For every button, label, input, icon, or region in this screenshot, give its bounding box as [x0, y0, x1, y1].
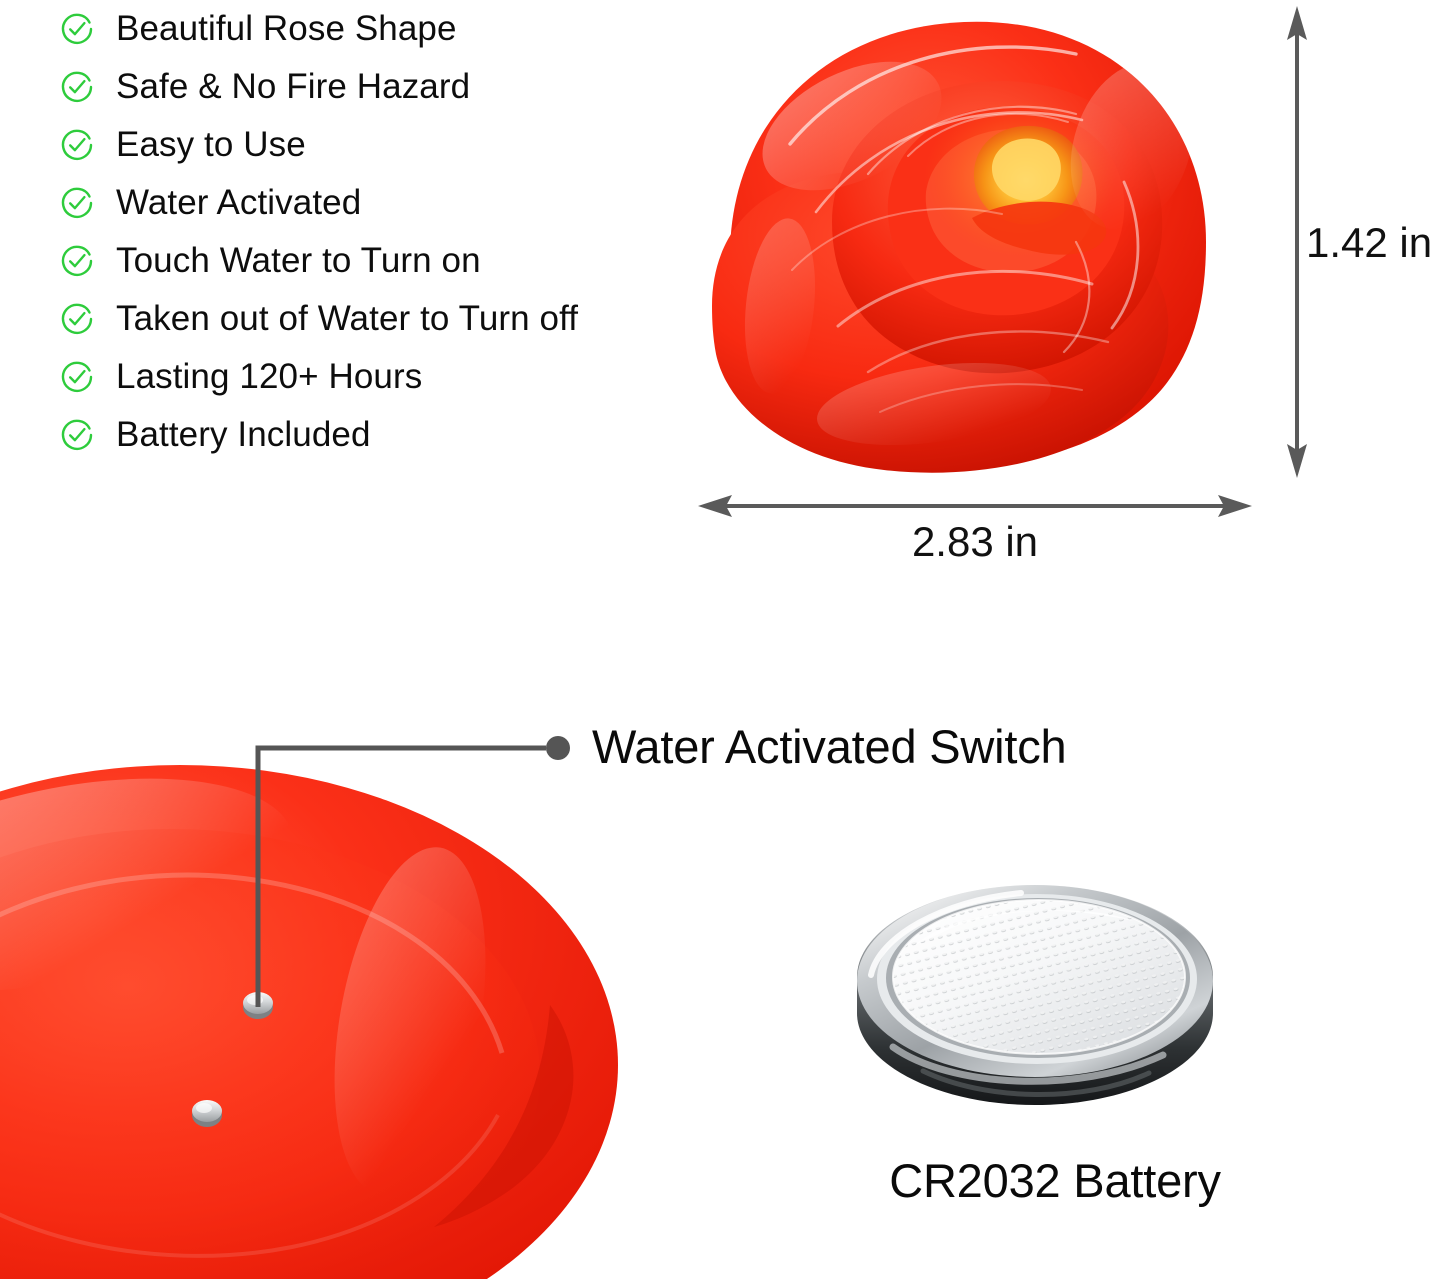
feature-item-label: Easy to Use: [116, 125, 306, 165]
feature-item-label: Water Activated: [116, 183, 361, 223]
feature-item-label: Lasting 120+ Hours: [116, 357, 422, 397]
rose-candle-image: [672, 6, 1262, 486]
height-dimension-label: 1.42 in: [1306, 218, 1432, 268]
check-circle-icon: [60, 70, 94, 104]
width-dimension-label: 2.83 in: [690, 516, 1260, 568]
feature-item: Taken out of Water to Turn off: [60, 290, 680, 348]
check-circle-icon: [60, 302, 94, 336]
feature-item: Water Activated: [60, 174, 680, 232]
check-circle-icon: [60, 244, 94, 278]
feature-item: Easy to Use: [60, 116, 680, 174]
feature-item: Touch Water to Turn on: [60, 232, 680, 290]
cr2032-battery-image: [845, 865, 1225, 1115]
water-contact-pin-secondary: [192, 1100, 222, 1127]
feature-list: Beautiful Rose Shape Safe & No Fire Haza…: [60, 0, 680, 464]
feature-item-label: Beautiful Rose Shape: [116, 9, 457, 49]
feature-item: Battery Included: [60, 406, 680, 464]
double-arrow-vertical-icon: [1287, 6, 1307, 478]
check-circle-icon: [60, 12, 94, 46]
feature-item-label: Touch Water to Turn on: [116, 241, 481, 281]
feature-item-label: Safe & No Fire Hazard: [116, 67, 470, 107]
double-arrow-horizontal-icon: [698, 495, 1252, 517]
check-circle-icon: [60, 418, 94, 452]
check-circle-icon: [60, 360, 94, 394]
check-circle-icon: [60, 128, 94, 162]
feature-item: Beautiful Rose Shape: [60, 0, 680, 58]
feature-item-label: Battery Included: [116, 415, 371, 455]
feature-item-label: Taken out of Water to Turn off: [116, 299, 578, 339]
battery-label: CR2032 Battery: [820, 1152, 1290, 1210]
callout-leader-line: [230, 725, 590, 1035]
callout-dot-icon: [546, 736, 570, 760]
feature-item: Lasting 120+ Hours: [60, 348, 680, 406]
callout-label: Water Activated Switch: [592, 718, 1066, 776]
product-infographic: Beautiful Rose Shape Safe & No Fire Haza…: [0, 0, 1445, 1279]
check-circle-icon: [60, 186, 94, 220]
feature-item: Safe & No Fire Hazard: [60, 58, 680, 116]
